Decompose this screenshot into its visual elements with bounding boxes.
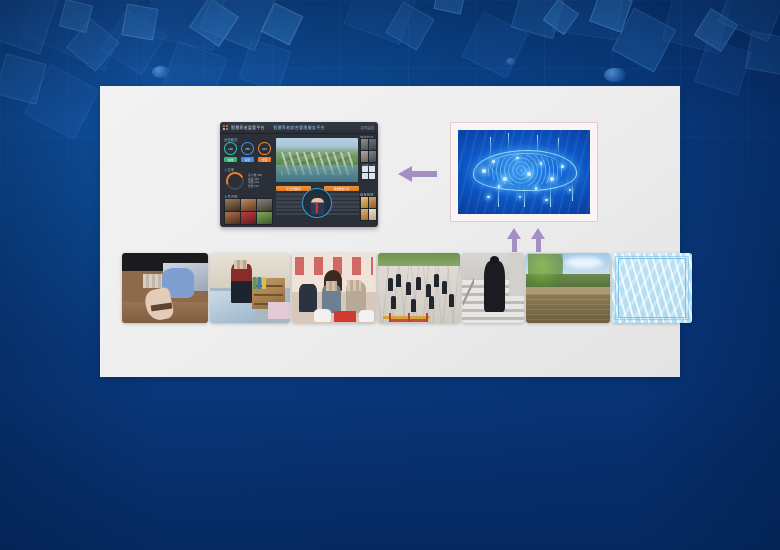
arrow-tail xyxy=(536,237,541,252)
photo-element xyxy=(406,282,411,295)
photo-element xyxy=(509,253,524,296)
arrow-up-icon xyxy=(531,228,545,252)
photo-element xyxy=(388,278,393,291)
list-item[interactable]: 楼梯间独行老人 xyxy=(462,253,524,323)
arrow-up-icon xyxy=(507,228,521,252)
kpi-button[interactable]: 床位 xyxy=(241,157,254,162)
kpi-gauge[interactable]: 256 xyxy=(241,142,254,155)
privacy-mosaic xyxy=(234,260,247,269)
brain-node xyxy=(487,196,490,199)
occupancy-donut-chart xyxy=(223,169,246,192)
brain-node xyxy=(482,169,486,173)
dashboard-center-title: 智慧养老综合管理服务平台 xyxy=(273,125,325,131)
dashboard-screenshot[interactable]: 智慧养老监管平台 智慧养老综合管理服务平台 实时监控 运营概览 128 256 … xyxy=(220,122,378,227)
list-item[interactable]: 浅蓝抽象纹理画面 xyxy=(612,253,692,323)
photo-element xyxy=(334,311,356,322)
photo-element xyxy=(426,313,428,322)
resident-avatar[interactable] xyxy=(302,188,332,218)
photo-element xyxy=(526,294,610,323)
dashboard-brand-label: 智慧养老监管平台 xyxy=(231,125,265,131)
photo-element xyxy=(396,274,401,287)
photo-element xyxy=(434,274,439,287)
brain-light-beam xyxy=(537,135,538,153)
photo-element xyxy=(391,296,396,309)
arrow-tail xyxy=(512,237,517,252)
photo-element xyxy=(389,313,391,322)
alert-stats-bar[interactable]: 今日告警统计 xyxy=(276,186,311,191)
kpi-button[interactable]: 告警 xyxy=(258,157,271,162)
photo-caption: 楼梯间独行老人 xyxy=(462,253,463,254)
scene-thumbnail-strip: 老人跌倒检测场景 房间内老人坐床边 活动室多人聚集 xyxy=(122,253,692,323)
photo-element xyxy=(463,271,474,313)
brain-light-beam xyxy=(524,184,525,208)
photo-element xyxy=(449,294,454,307)
brain-light-beam xyxy=(558,138,559,153)
photo-element xyxy=(299,284,317,312)
privacy-mosaic xyxy=(326,281,338,291)
campus-3d-map-view[interactable] xyxy=(276,138,358,182)
quick-entry-icon-grid[interactable] xyxy=(362,166,375,186)
kpi-gauge-group: 128 256 064 在线 床位 告警 xyxy=(224,142,272,164)
camera-feed-grid[interactable] xyxy=(360,138,375,162)
photo-element xyxy=(484,261,505,311)
avatar-figure-icon xyxy=(311,198,324,215)
photo-element xyxy=(416,277,421,290)
brain-node xyxy=(527,172,531,176)
brain-node xyxy=(492,160,495,163)
arrow-left-icon xyxy=(398,166,438,182)
brain-light-beam xyxy=(550,180,551,207)
brain-light-beam xyxy=(572,179,573,201)
photo-element xyxy=(411,299,416,312)
health-analysis-bar[interactable]: 健康数据分析 xyxy=(324,186,359,191)
brain-node xyxy=(503,177,507,181)
arrow-tail xyxy=(411,171,437,177)
brain-node xyxy=(561,165,564,168)
photo-element xyxy=(268,302,290,319)
photo-element xyxy=(426,284,431,297)
kpi-gauge[interactable]: 064 xyxy=(258,142,271,155)
meal-management-grid[interactable] xyxy=(360,196,376,222)
stat-line: 告警 016 xyxy=(248,185,272,189)
kpi-button[interactable]: 在线 xyxy=(224,157,237,162)
list-item[interactable]: 房间内老人坐床边 xyxy=(210,253,290,323)
photo-element xyxy=(408,313,410,322)
photo-element xyxy=(231,264,252,303)
photo-element xyxy=(618,258,687,318)
list-item[interactable]: 广场人群活动 xyxy=(378,253,460,323)
list-item[interactable]: 活动室多人聚集 xyxy=(292,253,376,323)
kpi-gauge[interactable]: 128 xyxy=(224,142,237,155)
brain-node xyxy=(535,187,538,190)
photo-element xyxy=(528,254,563,290)
privacy-mosaic xyxy=(143,274,162,288)
dashboard-right-title: 实时监控 xyxy=(360,125,374,130)
list-item[interactable]: 河岸公园环境 xyxy=(526,253,610,323)
list-item[interactable]: 老人跌倒检测场景 xyxy=(122,253,208,323)
ai-brain-card[interactable]: AI 人工智能分析引擎 xyxy=(450,122,598,222)
photo-element xyxy=(359,310,374,321)
photo-caption: 老人跌倒检测场景 xyxy=(122,253,123,254)
stat-line-list: 总人数 386 在院 352 请假 018 告警 016 xyxy=(248,174,272,188)
slide-root: 智慧养老监管平台 智慧养老综合管理服务平台 实时监控 运营概览 128 256 … xyxy=(0,0,780,550)
ai-brain-image: AI 人工智能分析引擎 xyxy=(458,130,590,214)
brain-light-beam xyxy=(508,133,509,150)
brain-light-beam xyxy=(498,182,499,207)
face-recognition-grid[interactable] xyxy=(224,198,272,224)
photo-element xyxy=(314,309,331,322)
photo-element xyxy=(429,296,434,309)
privacy-mosaic xyxy=(347,280,360,291)
platform-logo-icon xyxy=(223,125,229,131)
arrow-head xyxy=(398,166,412,182)
photo-element xyxy=(253,277,266,290)
photo-element xyxy=(442,281,447,294)
brain-light-beam xyxy=(490,137,491,157)
